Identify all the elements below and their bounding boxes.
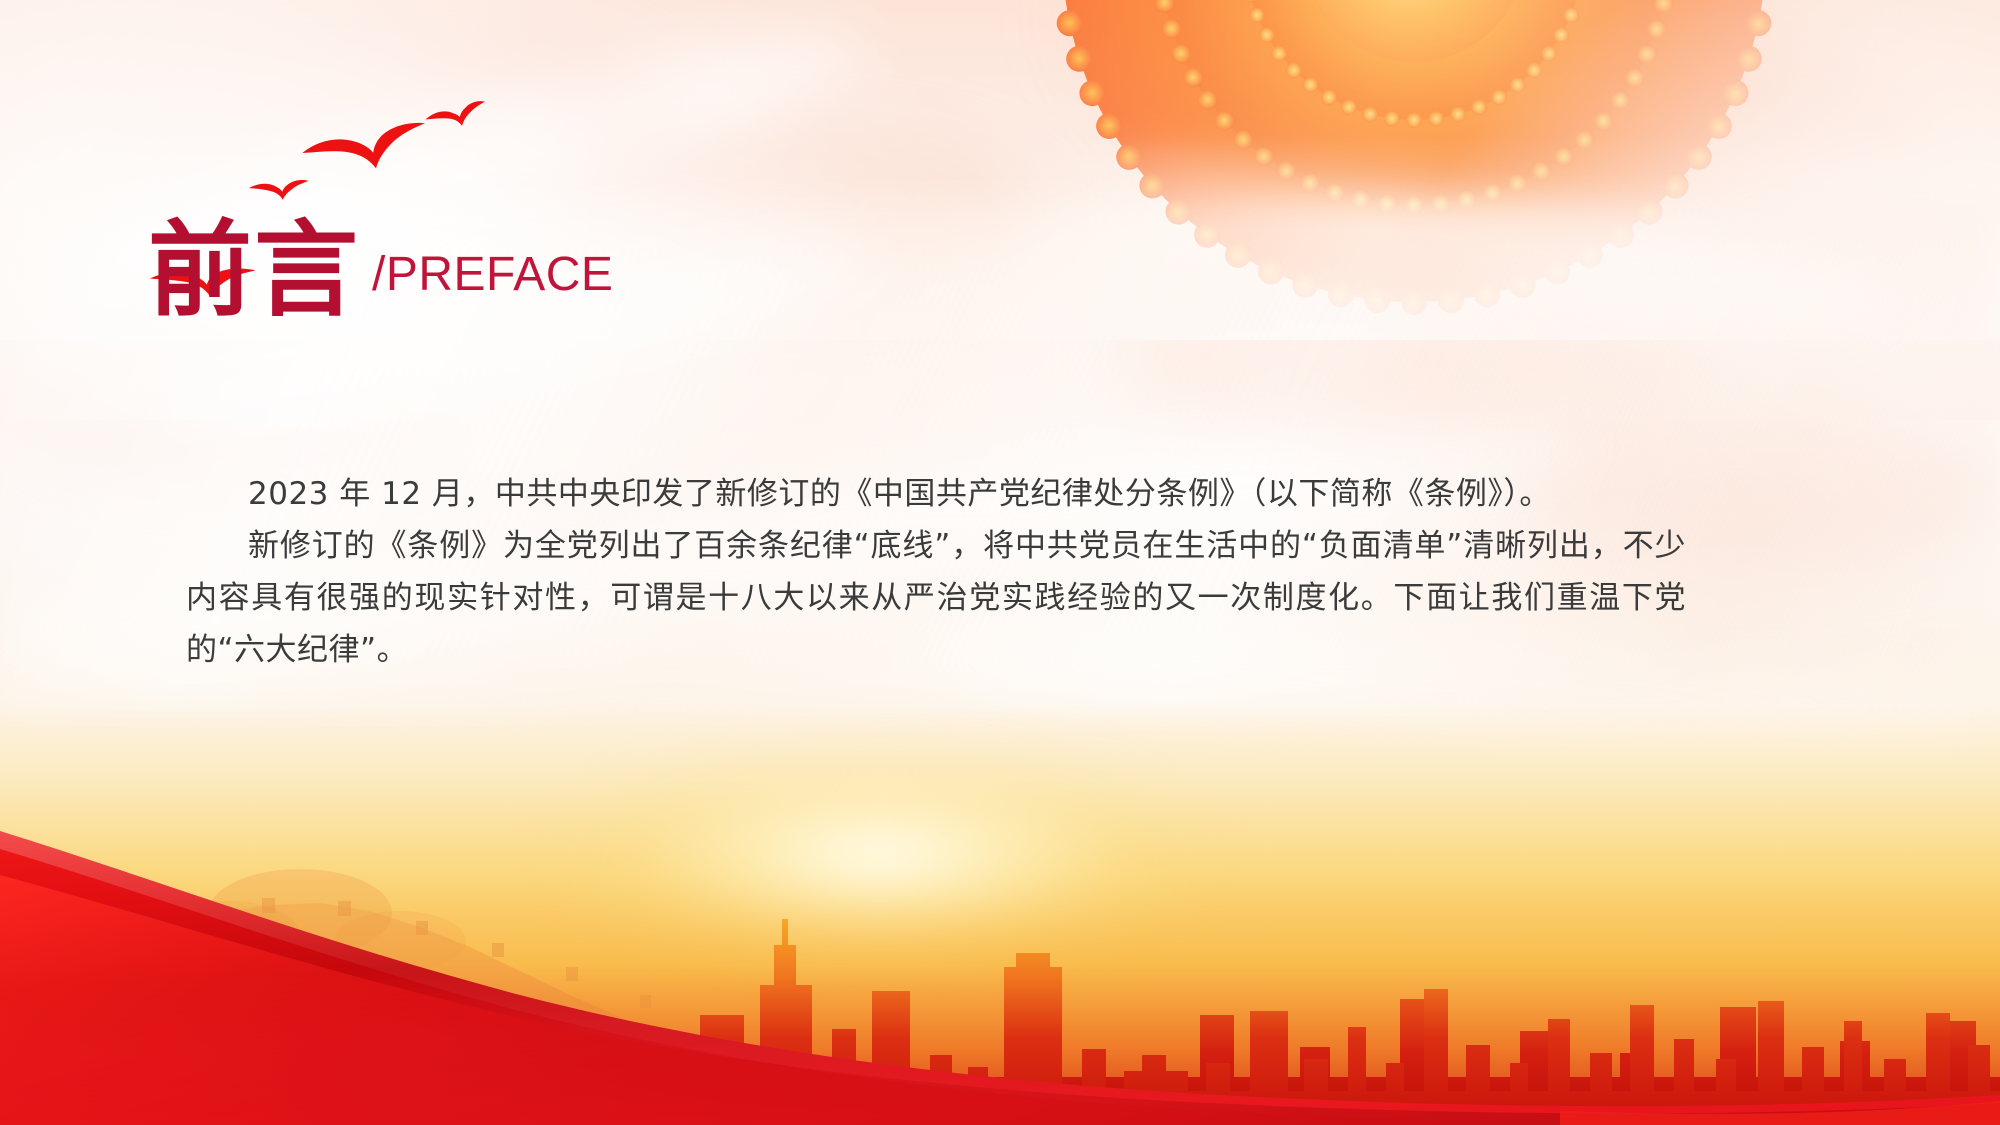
title-chinese: 前言 bbox=[148, 218, 360, 322]
page-title: 前言 /PREFACE bbox=[148, 218, 613, 322]
bird-icon bbox=[247, 173, 311, 203]
preface-body: 2023 年 12 月，中共中央印发了新修订的《中国共产党纪律处分条例》（以下简… bbox=[186, 468, 1686, 676]
paragraph-2: 新修订的《条例》为全党列出了百余条纪律“底线”，将中共党员在生活中的“负面清单”… bbox=[186, 520, 1686, 676]
bird-icon bbox=[296, 109, 433, 183]
red-ribbon bbox=[0, 795, 2000, 1125]
paragraph-1: 2023 年 12 月，中共中央印发了新修订的《中国共产党纪律处分条例》（以下简… bbox=[186, 468, 1686, 520]
slide-root: 前言 /PREFACE 2023 年 12 月，中共中央印发了新修订的《中国共产… bbox=[0, 0, 2000, 1125]
bird-icon bbox=[422, 93, 491, 136]
title-english: /PREFACE bbox=[372, 247, 613, 302]
